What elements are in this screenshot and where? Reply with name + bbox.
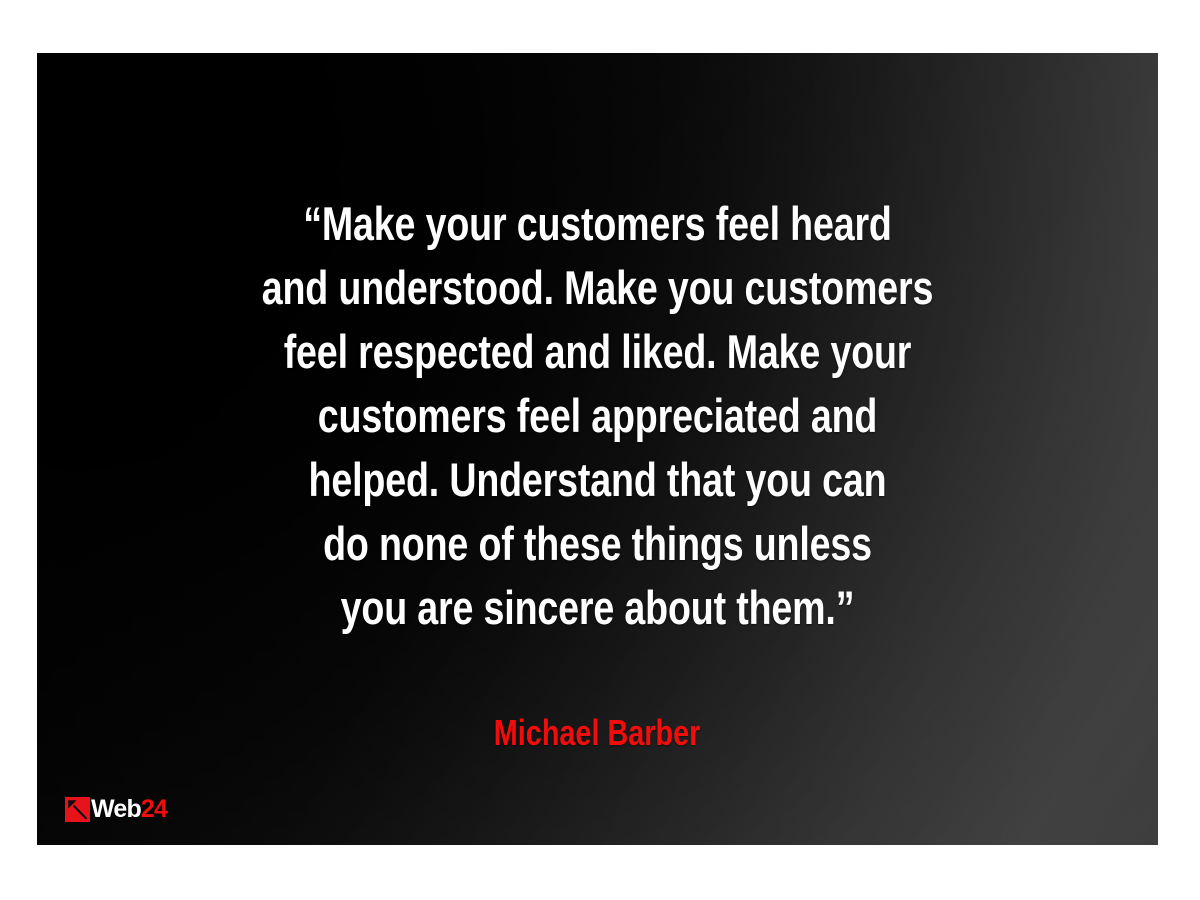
slide-root: “Make your customers feel heard and unde…: [0, 0, 1200, 900]
brand-logo: Web24: [65, 795, 167, 823]
attribution-author-name: Michael Barber: [494, 713, 700, 753]
brand-wordmark: Web24: [91, 797, 167, 822]
brand-word-accent: 24: [141, 795, 167, 823]
quote-line: you are sincere about them.”: [149, 576, 1046, 640]
quote-line: helped. Understand that you can: [149, 448, 1046, 512]
quote-line: feel respected and liked. Make your: [149, 320, 1046, 384]
quote-line: do none of these things unless: [149, 512, 1046, 576]
quote-line: customers feel appreciated and: [149, 384, 1046, 448]
quote-line: and understood. Make you customers: [149, 256, 1046, 320]
quote-line: “Make your customers feel heard: [149, 192, 1046, 256]
brand-word-primary: Web: [91, 795, 141, 823]
web24-arrow-mark-icon: [65, 797, 90, 822]
quote-attribution: Michael Barber: [37, 713, 1158, 753]
quote-panel: “Make your customers feel heard and unde…: [37, 53, 1158, 845]
quote-text-block: “Make your customers feel heard and unde…: [37, 192, 1158, 640]
